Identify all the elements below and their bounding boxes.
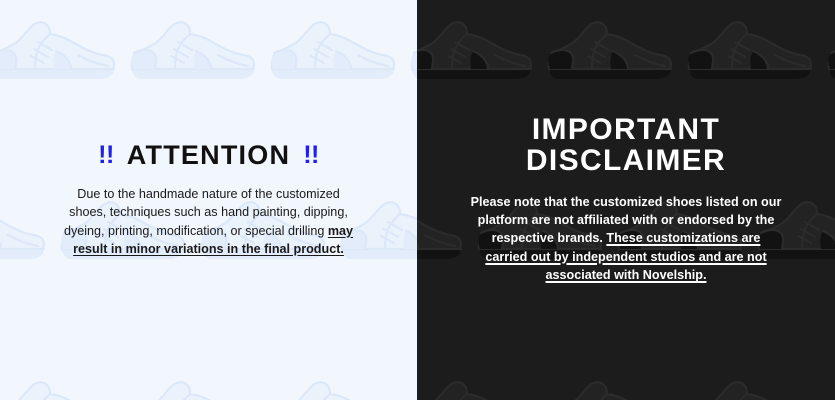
sneaker-icon [537,11,677,89]
sneaker-icon [260,11,400,89]
sneaker-icon [677,371,817,400]
pattern-row [417,320,835,400]
disclaimer-content: IMPORTANT DISCLAIMER Please note that th… [417,115,835,284]
sneaker-icon [817,11,835,89]
sneaker-icon [417,11,537,89]
sneaker-icon [817,371,835,400]
sneaker-icon [120,371,260,400]
sneaker-icon [417,371,537,400]
disclaimer-headline-line-2: DISCLAIMER [445,146,807,177]
sneaker-icon [677,11,817,89]
sneaker-icon [400,371,417,400]
double-exclamation-icon-right: !! [303,143,319,168]
attention-headline: !! ATTENTION !! [28,142,389,169]
attention-headline-text: ATTENTION [127,142,290,169]
disclaimer-panel: IMPORTANT DISCLAIMER Please note that th… [417,0,835,400]
double-exclamation-icon-left: !! [98,143,114,168]
sneaker-icon [120,11,260,89]
attention-body-regular: Due to the handmade nature of the custom… [64,187,348,238]
attention-panel: !! ATTENTION !! Due to the handmade natu… [0,0,417,400]
sneaker-icon [260,371,400,400]
pattern-row [0,320,417,400]
disclaimer-headline-line-1: IMPORTANT [445,115,807,146]
sneaker-icon [0,11,120,89]
attention-body: Due to the handmade nature of the custom… [59,185,359,259]
sneaker-icon [0,371,120,400]
sneaker-icon [400,11,417,89]
pattern-row [0,0,417,140]
disclaimer-body: Please note that the customized shoes li… [470,193,782,285]
disclaimer-headline: IMPORTANT DISCLAIMER [445,115,807,176]
attention-content: !! ATTENTION !! Due to the handmade natu… [0,142,417,259]
sneaker-icon [537,371,677,400]
disclaimer-banner: !! ATTENTION !! Due to the handmade natu… [0,0,835,400]
